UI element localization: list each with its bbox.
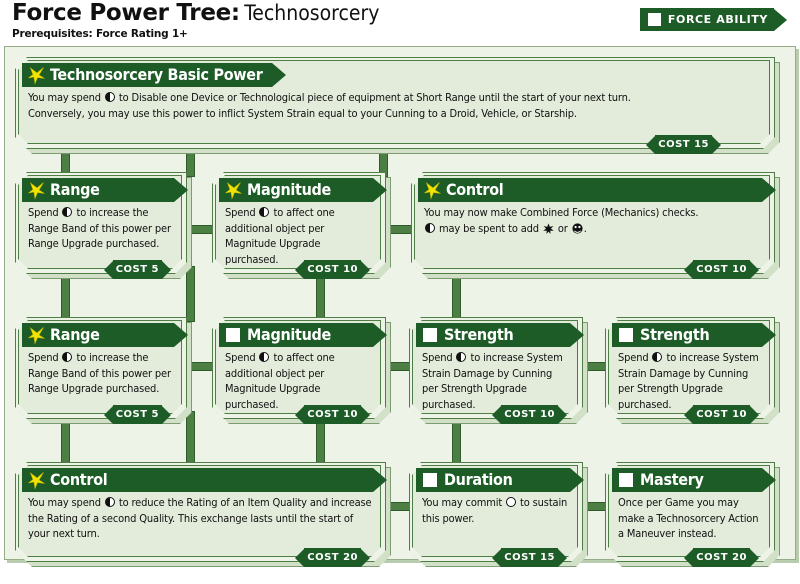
- node-title: Range: [50, 182, 100, 198]
- cost-badge-left-point: [684, 406, 693, 424]
- node-header-arrow-point: [373, 468, 387, 492]
- cost-badge-body: COST 5: [113, 405, 162, 424]
- power-node-r4-duration[interactable]: DurationYou may commit to sustain this p…: [409, 462, 581, 560]
- power-node-r4-mastery[interactable]: MasteryOnce per Game you may make a Tech…: [605, 462, 773, 560]
- node-title: Control: [50, 472, 107, 488]
- cost-badge-right-point: [750, 549, 759, 567]
- cost-badge-left-point: [104, 406, 113, 424]
- node-header-bar: Range: [22, 323, 174, 347]
- node-header: Magnitude: [219, 323, 387, 347]
- force-power-star-icon: [224, 181, 243, 200]
- node-header-arrow-point: [570, 468, 584, 492]
- cost-label: COST 10: [504, 409, 555, 420]
- node-description-line: Spend to increase the Range Band of this…: [28, 350, 173, 397]
- force-pip-icon: [62, 352, 72, 362]
- node-description-line: Spend to affect one additional object pe…: [225, 350, 372, 412]
- force-power-star-icon: [27, 181, 46, 200]
- node-title: Control: [446, 182, 503, 198]
- node-title: Strength: [444, 327, 513, 343]
- power-node-basic-power[interactable]: Technosorcery Basic PowerYou may spend t…: [15, 57, 773, 147]
- cost-badge-left-point: [492, 549, 501, 567]
- force-pip-icon: [62, 207, 72, 217]
- node-header: Duration: [416, 468, 584, 492]
- power-node-r3-magnitude[interactable]: MagnitudeSpend to affect one additional …: [212, 317, 384, 417]
- node-header: Strength: [416, 323, 584, 347]
- node-header-arrow-point: [373, 323, 387, 347]
- node-description-line: You may spend to Disable one Device or T…: [28, 90, 761, 106]
- cost-badge-right-point: [558, 549, 567, 567]
- cost-badge-right-point: [750, 261, 759, 279]
- cost-label: COST 10: [696, 264, 747, 275]
- cost-badge: COST 20: [295, 548, 370, 567]
- cost-badge-left-point: [295, 549, 304, 567]
- cost-badge: COST 5: [104, 260, 171, 279]
- node-description: Once per Game you may make a Technosorce…: [618, 495, 761, 542]
- node-title: Strength: [640, 327, 709, 343]
- power-node-r4-control[interactable]: ControlYou may spend to reduce the Ratin…: [15, 462, 384, 560]
- node-header: Strength: [612, 323, 776, 347]
- node-header-bar: Range: [22, 178, 174, 202]
- node-description-line: Spend to affect one additional object pe…: [225, 205, 372, 267]
- cost-label: COST 20: [696, 552, 747, 563]
- cost-badge-left-point: [295, 406, 304, 424]
- node-header-bar: Magnitude: [219, 323, 373, 347]
- node-header-bar: Magnitude: [219, 178, 373, 202]
- node-header-bar: Strength: [612, 323, 762, 347]
- cost-label: COST 10: [307, 264, 358, 275]
- node-header: Control: [418, 178, 776, 202]
- node-description-line: You may spend to reduce the Rating of an…: [28, 495, 372, 542]
- node-description-line: You may now make Combined Force (Mechani…: [424, 205, 761, 221]
- cost-label: COST 10: [307, 409, 358, 420]
- cost-badge-left-point: [684, 549, 693, 567]
- node-header: Mastery: [612, 468, 776, 492]
- page-header: Force Power Tree: Technosorcery Prerequi…: [0, 0, 800, 46]
- title-block: Force Power Tree: Technosorcery Prerequi…: [12, 2, 379, 40]
- node-header-arrow-point: [762, 323, 776, 347]
- node-title: Technosorcery Basic Power: [50, 67, 263, 83]
- cost-badge-body: COST 10: [693, 405, 750, 424]
- node-header-arrow-point: [174, 323, 188, 347]
- cost-badge-left-point: [684, 261, 693, 279]
- page-title-prefix: Force Power Tree:: [12, 0, 240, 26]
- node-description: Spend to increase System Strain Damage b…: [618, 350, 761, 412]
- power-node-r2-control[interactable]: ControlYou may now make Combined Force (…: [411, 172, 773, 272]
- force-ability-square-icon: [423, 328, 437, 342]
- power-node-r2-magnitude[interactable]: MagnitudeSpend to affect one additional …: [212, 172, 384, 272]
- force-ability-square-icon: [619, 473, 633, 487]
- node-header-bar: Mastery: [612, 468, 762, 492]
- cost-badge-body: COST 10: [501, 405, 558, 424]
- node-header-bar: Duration: [416, 468, 570, 492]
- node-header-arrow-point: [762, 468, 776, 492]
- node-title: Magnitude: [247, 327, 331, 343]
- node-title: Range: [50, 327, 100, 343]
- cost-badge: COST 10: [295, 405, 370, 424]
- node-header-bar: Strength: [416, 323, 570, 347]
- node-description: Spend to affect one additional object pe…: [225, 205, 372, 267]
- node-header-arrow-point: [174, 178, 188, 202]
- node-description: You may spend to reduce the Rating of an…: [28, 495, 372, 542]
- force-power-star-icon: [27, 326, 46, 345]
- cost-badge-body: COST 10: [304, 260, 361, 279]
- node-header-bar: Technosorcery Basic Power: [22, 63, 272, 87]
- cost-badge-left-point: [104, 261, 113, 279]
- cost-badge-right-point: [361, 261, 370, 279]
- node-header-arrow-point: [373, 178, 387, 202]
- node-description: Spend to affect one additional object pe…: [225, 350, 372, 412]
- force-ability-square-icon: [423, 473, 437, 487]
- power-node-r2-range[interactable]: RangeSpend to increase the Range Band of…: [15, 172, 185, 272]
- node-header: Range: [22, 178, 188, 202]
- cost-badge: COST 10: [684, 405, 759, 424]
- page-title-power-name: Technosorcery: [244, 1, 379, 25]
- connector-vertical: [186, 266, 195, 322]
- cost-badge-right-point: [750, 406, 759, 424]
- force-pip-icon: [456, 352, 466, 362]
- force-ability-square-icon: [226, 328, 240, 342]
- page-title: Force Power Tree: Technosorcery: [12, 2, 379, 25]
- force-ability-square-icon: [619, 328, 633, 342]
- cost-badge-right-point: [162, 406, 171, 424]
- force-pip-icon: [105, 92, 115, 102]
- cost-badge-right-point: [361, 406, 370, 424]
- cost-badge: COST 15: [492, 548, 567, 567]
- node-header: Control: [22, 468, 387, 492]
- cost-badge-right-point: [712, 136, 721, 154]
- cost-label: COST 15: [658, 139, 709, 150]
- cost-badge-body: COST 15: [501, 548, 558, 567]
- advantage-icon: [543, 223, 554, 234]
- node-description-line: Spend to increase System Strain Damage b…: [618, 350, 761, 412]
- node-description-line: may be spent to add or .: [424, 221, 761, 237]
- node-header-arrow-point: [762, 178, 776, 202]
- force-power-star-icon: [423, 181, 442, 200]
- cost-badge-body: COST 5: [113, 260, 162, 279]
- force-pip-icon: [105, 497, 115, 507]
- node-header-bar: Control: [418, 178, 762, 202]
- legend-force-ability: FORCE ABILITY: [640, 8, 787, 31]
- cost-badge-left-point: [295, 261, 304, 279]
- node-description: You may commit to sustain this power.: [422, 495, 569, 526]
- cost-badge-body: COST 20: [693, 548, 750, 567]
- power-tree-frame: Technosorcery Basic PowerYou may spend t…: [4, 46, 796, 560]
- power-node-r3-strength-a[interactable]: StrengthSpend to increase System Strain …: [409, 317, 581, 417]
- cost-badge-right-point: [162, 261, 171, 279]
- power-node-r3-strength-b[interactable]: StrengthSpend to increase System Strain …: [605, 317, 773, 417]
- cost-label: COST 5: [116, 264, 159, 275]
- node-description: Spend to increase System Strain Damage b…: [422, 350, 569, 412]
- cost-label: COST 20: [307, 552, 358, 563]
- force-pip-icon: [425, 223, 435, 233]
- node-header-arrow-point: [570, 323, 584, 347]
- force-power-star-icon: [27, 471, 46, 490]
- cost-badge: COST 10: [295, 260, 370, 279]
- cost-badge-left-point: [492, 406, 501, 424]
- power-node-r3-range[interactable]: RangeSpend to increase the Range Band of…: [15, 317, 185, 417]
- prerequisites-text: Prerequisites: Force Rating 1+: [12, 28, 379, 40]
- cost-badge-body: COST 10: [693, 260, 750, 279]
- node-header: Range: [22, 323, 188, 347]
- force-pip-icon: [259, 352, 269, 362]
- cost-badge-body: COST 10: [304, 405, 361, 424]
- cost-badge-body: COST 15: [655, 135, 712, 154]
- node-description: Spend to increase the Range Band of this…: [28, 205, 173, 252]
- cost-badge-right-point: [558, 406, 567, 424]
- cost-badge-left-point: [646, 136, 655, 154]
- node-title: Magnitude: [247, 182, 331, 198]
- success-icon: [572, 223, 583, 234]
- legend-body: FORCE ABILITY: [640, 8, 774, 31]
- node-description: Spend to increase the Range Band of this…: [28, 350, 173, 397]
- cost-label: COST 5: [116, 409, 159, 420]
- legend-label: FORCE ABILITY: [668, 13, 768, 26]
- cost-badge: COST 5: [104, 405, 171, 424]
- node-header: Magnitude: [219, 178, 387, 202]
- node-description-line: Spend to increase System Strain Damage b…: [422, 350, 569, 412]
- node-description-line: Once per Game you may make a Technosorce…: [618, 495, 761, 542]
- force-commit-icon: [506, 497, 516, 507]
- node-title: Mastery: [640, 472, 704, 488]
- force-power-star-icon: [27, 66, 46, 85]
- node-description-line: Conversely, you may use this power to in…: [28, 106, 761, 122]
- cost-badge: COST 10: [492, 405, 567, 424]
- node-title: Duration: [444, 472, 513, 488]
- connector-vertical: [186, 411, 195, 467]
- cost-label: COST 10: [696, 409, 747, 420]
- cost-badge: COST 10: [684, 260, 759, 279]
- cost-label: COST 15: [504, 552, 555, 563]
- node-header-bar: Control: [22, 468, 373, 492]
- legend-arrow-point: [774, 9, 787, 31]
- cost-badge: COST 20: [684, 548, 759, 567]
- force-pip-icon: [652, 352, 662, 362]
- node-description-line: You may commit to sustain this power.: [422, 495, 569, 526]
- force-pip-icon: [259, 207, 269, 217]
- node-header-arrow-point: [272, 63, 286, 87]
- cost-badge-body: COST 20: [304, 548, 361, 567]
- white-square-icon: [648, 13, 661, 26]
- cost-badge-right-point: [361, 549, 370, 567]
- cost-badge: COST 15: [646, 135, 721, 154]
- node-header: Technosorcery Basic Power: [22, 63, 286, 87]
- node-description-line: Spend to increase the Range Band of this…: [28, 205, 173, 252]
- node-description: You may spend to Disable one Device or T…: [28, 90, 761, 121]
- node-description: You may now make Combined Force (Mechani…: [424, 205, 761, 236]
